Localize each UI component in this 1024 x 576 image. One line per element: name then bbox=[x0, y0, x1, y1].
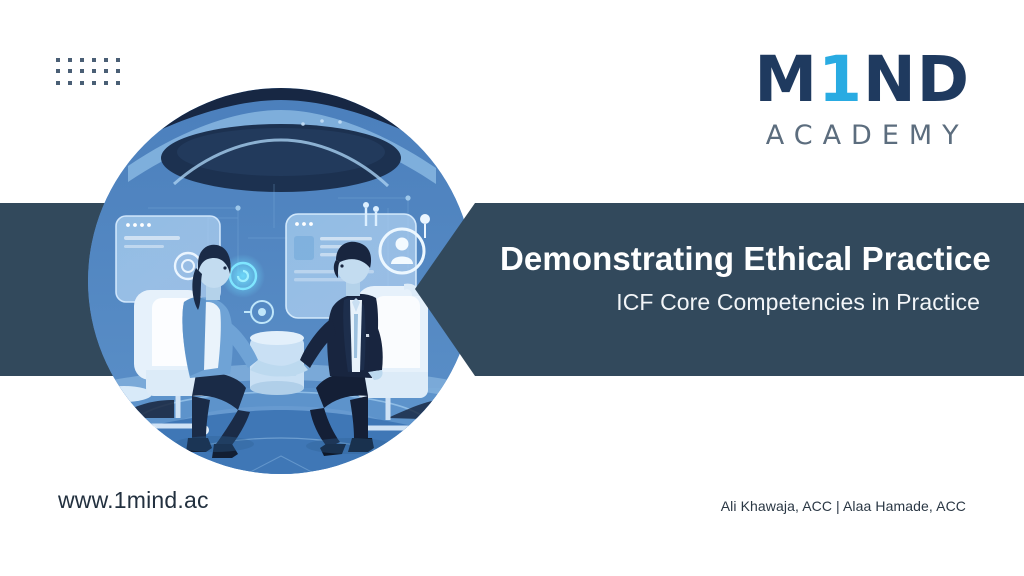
decor-dot bbox=[92, 58, 96, 62]
title-slide: Demonstrating Ethical Practice ICF Core … bbox=[0, 0, 1024, 576]
decor-dot bbox=[68, 58, 72, 62]
dot-grid-decoration bbox=[56, 58, 128, 92]
decor-dot bbox=[68, 69, 72, 73]
page-title: Demonstrating Ethical Practice bbox=[500, 240, 980, 279]
brand-logo: M1ND ACADEMY bbox=[754, 48, 970, 151]
decor-dot bbox=[80, 58, 84, 62]
page-subtitle: ICF Core Competencies in Practice bbox=[500, 289, 980, 317]
logo-letter-m: M bbox=[754, 43, 818, 116]
decor-dot bbox=[80, 69, 84, 73]
logo-letters-nd: ND bbox=[863, 43, 970, 116]
decor-dot bbox=[104, 58, 108, 62]
decor-dot bbox=[116, 69, 120, 73]
logo-numeral-one: 1 bbox=[818, 43, 863, 116]
decor-dot bbox=[104, 69, 108, 73]
decor-dot bbox=[92, 69, 96, 73]
coaching-session-illustration bbox=[88, 88, 474, 474]
title-block: Demonstrating Ethical Practice ICF Core … bbox=[500, 240, 980, 317]
logo-tagline: ACADEMY bbox=[754, 120, 970, 151]
decor-dot bbox=[92, 81, 96, 85]
website-url[interactable]: www.1mind.ac bbox=[58, 487, 209, 514]
decor-dot bbox=[116, 58, 120, 62]
logo-wordmark: M1ND bbox=[754, 48, 970, 111]
presenter-names: Ali Khawaja, ACC | Alaa Hamade, ACC bbox=[721, 498, 966, 514]
decor-dot bbox=[104, 81, 108, 85]
decor-dot bbox=[56, 81, 60, 85]
decor-dot bbox=[80, 81, 84, 85]
decor-dot bbox=[116, 81, 120, 85]
decor-dot bbox=[68, 81, 72, 85]
decor-dot bbox=[56, 58, 60, 62]
decor-dot bbox=[56, 69, 60, 73]
